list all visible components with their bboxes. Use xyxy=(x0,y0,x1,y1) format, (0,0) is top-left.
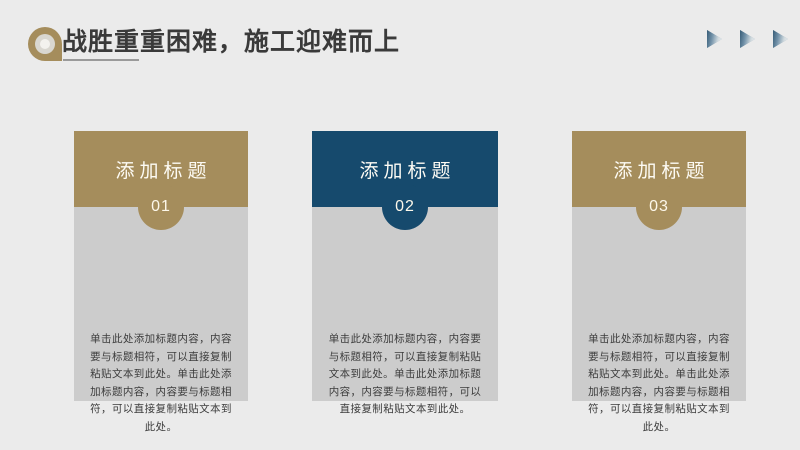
card-title: 添加标题 xyxy=(608,156,709,183)
nav-arrow-group xyxy=(707,30,788,48)
page-title: 战胜重重困难，施工迎难而上 xyxy=(62,22,400,58)
card-number-badge: 02 xyxy=(382,184,428,230)
card-body-text: 单击此处添加标题内容，内容要与标题相符，可以直接复制粘贴文本到此处。单击此处添加… xyxy=(584,331,734,436)
card-title: 添加标题 xyxy=(354,156,455,183)
card-body: 单击此处添加标题内容，内容要与标题相符，可以直接复制粘贴文本到此处。单击此处添加… xyxy=(74,207,248,401)
play-arrow-icon[interactable] xyxy=(740,30,755,48)
card-body-text: 单击此处添加标题内容，内容要与标题相符，可以直接复制粘贴文本到此处。单击此处添加… xyxy=(324,331,486,419)
card-title: 添加标题 xyxy=(110,156,211,183)
slide-canvas: 战胜重重困难，施工迎难而上 添加标题 01 单击此处添加标题内容，内容要与标题相… xyxy=(0,0,800,450)
play-arrow-icon[interactable] xyxy=(773,30,788,48)
play-arrow-icon[interactable] xyxy=(707,30,722,48)
content-card[interactable]: 添加标题 01 单击此处添加标题内容，内容要与标题相符，可以直接复制粘贴文本到此… xyxy=(74,131,248,401)
card-body-text: 单击此处添加标题内容，内容要与标题相符，可以直接复制粘贴文本到此处。单击此处添加… xyxy=(86,331,236,436)
teardrop-ring-icon xyxy=(28,27,62,61)
card-body: 单击此处添加标题内容，内容要与标题相符，可以直接复制粘贴文本到此处。单击此处添加… xyxy=(572,207,746,401)
card-number-badge: 03 xyxy=(636,184,682,230)
content-card[interactable]: 添加标题 03 单击此处添加标题内容，内容要与标题相符，可以直接复制粘贴文本到此… xyxy=(572,131,746,401)
teardrop-inner-dot xyxy=(40,39,50,49)
card-body: 单击此处添加标题内容，内容要与标题相符，可以直接复制粘贴文本到此处。单击此处添加… xyxy=(312,207,498,401)
card-group: 添加标题 01 单击此处添加标题内容，内容要与标题相符，可以直接复制粘贴文本到此… xyxy=(74,131,746,401)
title-underline xyxy=(63,59,139,61)
slide-header: 战胜重重困难，施工迎难而上 xyxy=(0,0,800,95)
content-card[interactable]: 添加标题 02 单击此处添加标题内容，内容要与标题相符，可以直接复制粘贴文本到此… xyxy=(312,131,498,401)
card-number-badge: 01 xyxy=(138,184,184,230)
